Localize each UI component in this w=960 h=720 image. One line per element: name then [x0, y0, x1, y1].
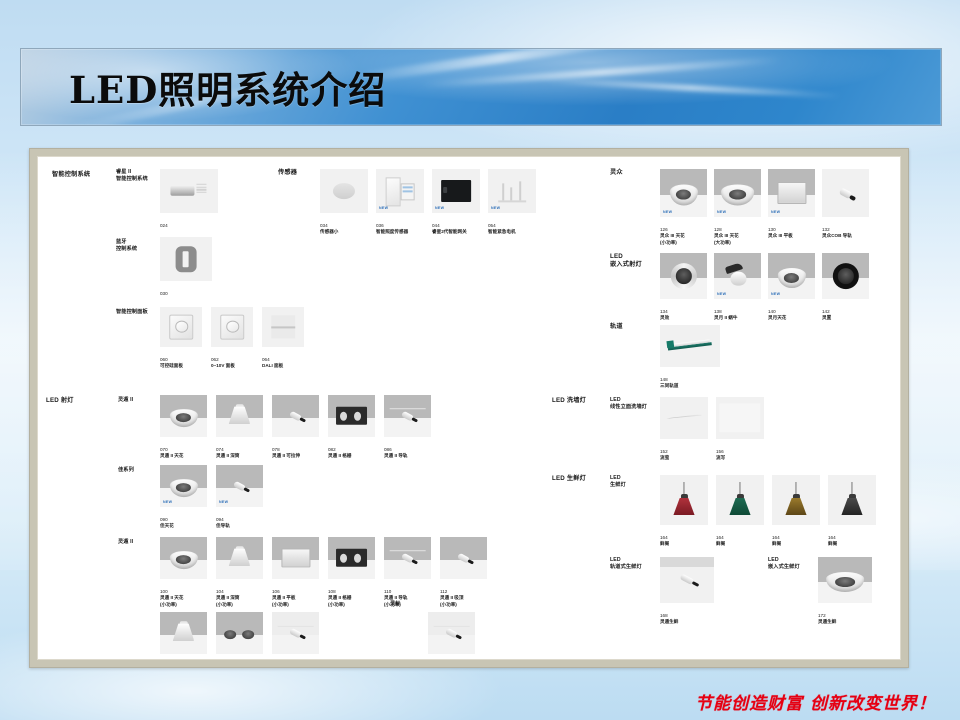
- product-caption: 152 流萤: [660, 443, 669, 462]
- product-thumb[interactable]: NEW: [768, 169, 815, 217]
- subgroup-label-lingdun-iii: 灵遁 II: [118, 539, 133, 546]
- product-code: 148: [660, 377, 668, 382]
- product-label: 灵遁生鲜: [818, 619, 836, 624]
- product-thumb[interactable]: [440, 537, 487, 579]
- product-thumb[interactable]: [828, 475, 876, 525]
- product-label: 鲜阁: [772, 541, 781, 546]
- new-badge: NEW: [771, 210, 780, 214]
- product-caption: 140 灵月天花: [768, 303, 786, 322]
- product-thumb[interactable]: [716, 397, 764, 439]
- product-thumb[interactable]: [160, 395, 207, 437]
- product-label: 灵众 III 天花 (小功率): [660, 233, 685, 244]
- subgroup-label-jia-series: 佳系列: [118, 467, 134, 474]
- new-badge: NEW: [219, 500, 228, 504]
- new-badge: NEW: [717, 210, 726, 214]
- product-code: 054: [488, 223, 496, 228]
- product-thumb[interactable]: [660, 325, 720, 367]
- product-thumb[interactable]: [160, 237, 212, 281]
- product-thumb[interactable]: NEW: [714, 169, 761, 217]
- product-code: 134: [660, 309, 668, 314]
- product-code: 106: [272, 589, 280, 594]
- product-label: 灵效: [660, 315, 669, 320]
- gateway-icon: [441, 180, 471, 202]
- product-label: 灵遁生鲜: [660, 619, 678, 624]
- product-thumb[interactable]: NEW: [432, 169, 480, 213]
- catalog-frame: 智能控制系统 睿星 II 智能控制系统 024 蓝牙 控制系统 030 智: [29, 148, 909, 668]
- product-thumb[interactable]: [160, 537, 207, 579]
- product-label: 可控硅面板: [160, 363, 183, 368]
- group-title-led-spotlight: LED 射灯: [46, 397, 74, 405]
- product-code: 070: [160, 447, 168, 452]
- product-caption: 070 灵遁 II 天花: [160, 441, 183, 460]
- product-label: 三同轨道: [660, 383, 678, 388]
- product-thumb[interactable]: [716, 475, 764, 525]
- product-thumb[interactable]: [822, 253, 869, 299]
- product-thumb[interactable]: NEW: [488, 169, 536, 213]
- group-title-led-wall-washer: LED 洗墙灯: [552, 397, 586, 405]
- pendant-lamp-icon: [673, 482, 695, 518]
- product-label: 智能紧急电机: [488, 229, 516, 234]
- product-label: 灵月 II 蜗牛: [714, 315, 737, 320]
- product-caption: 156 流写: [716, 443, 725, 462]
- product-code: 060: [160, 357, 168, 362]
- product-label: 智能照度传感器: [376, 229, 408, 234]
- product-thumb[interactable]: [660, 397, 708, 439]
- product-caption: 164 鲜阁: [716, 529, 725, 548]
- new-badge: NEW: [663, 210, 672, 214]
- catalog-canvas: 智能控制系统 睿星 II 智能控制系统 024 蓝牙 控制系统 030 智: [38, 157, 900, 659]
- product-label: 灵遁 II 可拉伸: [272, 453, 300, 458]
- product-label: 传感器小: [320, 229, 338, 234]
- product-caption: 062 0~10V 面板: [211, 351, 235, 370]
- product-caption: 104 灵遁 II 深筒 (小功率): [216, 583, 239, 608]
- product-label: 佳导轨: [216, 523, 230, 528]
- product-thumb[interactable]: NEW: [660, 169, 707, 217]
- group-title-led-fresh-food-light: LED 生鲜灯: [552, 475, 586, 483]
- product-caption: 164 鲜阁: [772, 529, 781, 548]
- product-caption: 100 灵遁 II 天花 (小功率): [160, 583, 183, 608]
- product-caption: 142 灵置: [822, 303, 831, 322]
- product-thumb[interactable]: [818, 557, 872, 603]
- product-caption: 164 鲜阁: [660, 529, 669, 548]
- product-label: 灵置: [822, 315, 831, 320]
- title-banner: LED照明系统介绍: [20, 48, 942, 126]
- subgroup-label-lingbiao: 灵标: [390, 601, 401, 608]
- product-thumb[interactable]: [160, 169, 218, 213]
- product-caption: 108 灵遁 II 格栅 (小功率): [328, 583, 351, 608]
- dimmer-panel-icon: [220, 315, 244, 340]
- product-code: 112: [440, 589, 447, 594]
- product-label: 灵众 III 平板: [768, 233, 793, 238]
- product-thumb[interactable]: [272, 612, 319, 654]
- subgroup-label-smart-control-panel: 智能控制面板: [116, 309, 148, 316]
- cloud-wisp-icon: [352, 48, 650, 84]
- new-badge: NEW: [163, 500, 172, 504]
- group-title-track: 轨道: [610, 323, 623, 331]
- product-code: 094: [216, 517, 224, 522]
- product-code: 104: [216, 589, 224, 594]
- product-thumb[interactable]: [428, 612, 475, 654]
- product-label: 灵遁 II 平板 (小功率): [272, 595, 295, 606]
- subgroup-label-track-fresh-light: LED 轨道式生鲜灯: [610, 557, 642, 572]
- product-thumb[interactable]: NEW: [160, 465, 207, 507]
- new-badge: NEW: [379, 206, 388, 210]
- product-caption: 044 睿星2代智能网关: [432, 217, 467, 236]
- product-caption: 120 灵遁 II 导轨 (大功率): [272, 658, 295, 660]
- product-code: 126: [660, 227, 668, 232]
- product-label: 灵遁 II 吸顶 (小功率): [440, 595, 463, 606]
- group-title-lingzhong: 灵众: [610, 169, 623, 177]
- product-caption: 134 灵效: [660, 303, 669, 322]
- product-thumb[interactable]: [660, 557, 714, 603]
- product-label: 灵遁 II 格栅 (小功率): [328, 595, 351, 606]
- product-thumb[interactable]: NEW: [376, 169, 424, 213]
- subgroup-label-bluetooth-control: 蓝牙 控制系统: [116, 239, 137, 254]
- product-caption: 060 可控硅面板: [160, 351, 183, 370]
- illuminance-sensor-icon: [385, 177, 416, 204]
- product-code: 064: [262, 357, 270, 362]
- product-caption: 054 智能紧急电机: [488, 217, 516, 236]
- catalog-sheet: 智能控制系统 睿星 II 智能控制系统 024 蓝牙 控制系统 030 智: [37, 156, 901, 660]
- product-thumb[interactable]: [216, 612, 263, 654]
- product-code: 140: [768, 309, 776, 314]
- subgroup-label-lingdun-ii: 灵遁 II: [118, 397, 133, 404]
- pendant-lamp-icon: [841, 482, 863, 518]
- product-caption: 036 智能照度传感器: [376, 217, 408, 236]
- product-thumb[interactable]: NEW: [714, 253, 761, 299]
- product-thumb[interactable]: [262, 307, 304, 347]
- product-label: 灵月天花: [768, 315, 786, 320]
- product-code: 168: [660, 613, 668, 618]
- product-thumb[interactable]: [384, 537, 431, 579]
- product-code: 036: [376, 223, 384, 228]
- product-thumb[interactable]: [216, 537, 263, 579]
- product-caption: 116 灵遁 II 格栅 (大功率): [216, 658, 239, 660]
- product-caption: 078 灵遁 II 可拉伸: [272, 441, 300, 460]
- new-badge: NEW: [491, 206, 500, 210]
- product-label: 鲜阁: [716, 541, 725, 546]
- product-label: 灵遁 II 导轨: [384, 453, 407, 458]
- product-caption: 030: [160, 285, 168, 297]
- product-thumb[interactable]: NEW: [216, 465, 263, 507]
- product-label: 佳天花: [160, 523, 174, 528]
- product-code: 024: [160, 223, 168, 228]
- product-code: 164: [772, 535, 780, 540]
- product-code: 034: [320, 223, 328, 228]
- product-label: 灵众COB 导轨: [822, 233, 852, 238]
- product-code: 132: [822, 227, 830, 232]
- product-caption: 090 佳天花: [160, 511, 174, 530]
- group-title-led-recessed-spotlight: LED 嵌入式射灯: [610, 253, 642, 270]
- product-caption: 132 灵众COB 导轨: [822, 221, 852, 240]
- product-code: 062: [211, 357, 219, 362]
- product-code: 172: [818, 613, 826, 618]
- product-code: 138: [714, 309, 722, 314]
- product-caption: 074 灵遁 II 深筒: [216, 441, 239, 460]
- product-thumb[interactable]: [216, 395, 263, 437]
- footer-slogan: 节能创造财富 创新改变世界！: [695, 689, 936, 714]
- product-caption: 138 灵月 II 蜗牛: [714, 303, 737, 322]
- product-label: 流写: [716, 455, 725, 460]
- subgroup-label-recessed-fresh-light: LED 嵌入式生鲜灯: [768, 557, 800, 572]
- product-code: 044: [432, 223, 440, 228]
- product-thumb[interactable]: [772, 475, 820, 525]
- product-code: 078: [272, 447, 280, 452]
- product-caption: 024: [160, 217, 168, 229]
- product-label: 0~10V 面板: [211, 363, 235, 368]
- product-code: 164: [716, 535, 724, 540]
- group-title-smart-control-system: 智能控制系统: [52, 171, 90, 179]
- product-caption: 122 灵标: [428, 658, 437, 660]
- product-label: 灵遁 II 深筒: [216, 453, 239, 458]
- product-caption: 128 灵众 III 天花 (大功率): [714, 221, 739, 246]
- product-label: 流萤: [660, 455, 669, 460]
- bluetooth-module-icon: [176, 246, 197, 272]
- product-label: 灵遁 II 深筒 (小功率): [216, 595, 239, 606]
- product-thumb[interactable]: [822, 169, 869, 217]
- product-caption: 106 灵遁 II 平板 (小功率): [272, 583, 295, 608]
- cloud-wisp-icon: [421, 56, 781, 88]
- product-label: 灵遁 II 格栅: [328, 453, 351, 458]
- product-label: 灵众 III 天花 (大功率): [714, 233, 739, 244]
- subgroup-label-linear-wall-washer: LED 线性立面洗墙灯: [610, 397, 647, 412]
- product-code: 082: [328, 447, 336, 452]
- dimmer-panel-icon: [169, 315, 193, 340]
- product-thumb[interactable]: [272, 395, 319, 437]
- product-label: 灵遁 II 天花 (小功率): [160, 595, 183, 606]
- product-caption: 086 灵遁 II 导轨: [384, 441, 407, 460]
- subgroup-label-smart-control: 睿星 II 智能控制系统: [116, 169, 148, 184]
- product-code: 130: [768, 227, 776, 232]
- new-badge: NEW: [435, 206, 444, 210]
- product-code: 164: [660, 535, 668, 540]
- product-thumb[interactable]: [660, 253, 707, 299]
- product-code: 074: [216, 447, 224, 452]
- product-thumb[interactable]: NEW: [768, 253, 815, 299]
- group-title-sensor: 传感器: [278, 169, 297, 177]
- product-code: 030: [160, 291, 168, 296]
- cloud-wisp-icon: [541, 77, 841, 99]
- product-thumb[interactable]: [320, 169, 368, 213]
- product-caption: 094 佳导轨: [216, 511, 230, 530]
- product-caption: 126 灵众 III 天花 (小功率): [660, 221, 685, 246]
- motion-sensor-icon: [333, 183, 355, 199]
- product-code: 156: [716, 449, 724, 454]
- controller-icon: [170, 182, 207, 200]
- product-code: 100: [160, 589, 168, 594]
- dali-panel-icon: [271, 315, 295, 338]
- product-thumb[interactable]: [211, 307, 253, 347]
- product-thumb[interactable]: [160, 307, 202, 347]
- product-code: 090: [160, 517, 168, 522]
- product-code: 108: [328, 589, 336, 594]
- product-thumb[interactable]: [328, 537, 375, 579]
- pendant-lamp-icon: [729, 482, 751, 518]
- product-label: 鲜阁: [660, 541, 669, 546]
- product-caption: 168 灵遁生鲜: [660, 607, 678, 626]
- product-label: 灵遁 II 天花: [160, 453, 183, 458]
- product-caption: 148 三同轨道: [660, 371, 678, 390]
- product-thumb[interactable]: [160, 612, 207, 654]
- product-caption: 114 灵遁 II 天花 (大功率): [160, 658, 183, 660]
- page-title: LED照明系统介绍: [69, 60, 386, 114]
- product-code: 086: [384, 447, 392, 452]
- new-badge: NEW: [771, 292, 780, 296]
- product-thumb[interactable]: [660, 475, 708, 525]
- product-caption: 112 灵遁 II 吸顶 (小功率): [440, 583, 463, 608]
- product-caption: 064 DALI 面板: [262, 351, 283, 370]
- product-code: 152: [660, 449, 668, 454]
- product-caption: 164 鲜阁: [828, 529, 837, 548]
- product-caption: 034 传感器小: [320, 217, 338, 236]
- product-code: 142: [822, 309, 830, 314]
- new-badge: NEW: [717, 292, 726, 296]
- pendant-lamp-icon: [785, 482, 807, 518]
- product-caption: 130 灵众 III 平板: [768, 221, 793, 240]
- product-code: 110: [384, 589, 391, 594]
- product-thumb[interactable]: [384, 395, 431, 437]
- product-code: 164: [828, 535, 836, 540]
- product-caption: 082 灵遁 II 格栅: [328, 441, 351, 460]
- product-label: DALI 面板: [262, 363, 283, 368]
- subgroup-label-fresh-pendant: LED 生鲜灯: [610, 475, 626, 490]
- emergency-motor-icon: [495, 177, 529, 204]
- product-caption: 172 灵遁生鲜: [818, 607, 836, 626]
- product-thumb[interactable]: [272, 537, 319, 579]
- product-label: 睿星2代智能网关: [432, 229, 467, 234]
- product-code: 128: [714, 227, 722, 232]
- product-thumb[interactable]: [328, 395, 375, 437]
- product-label: 鲜阁: [828, 541, 837, 546]
